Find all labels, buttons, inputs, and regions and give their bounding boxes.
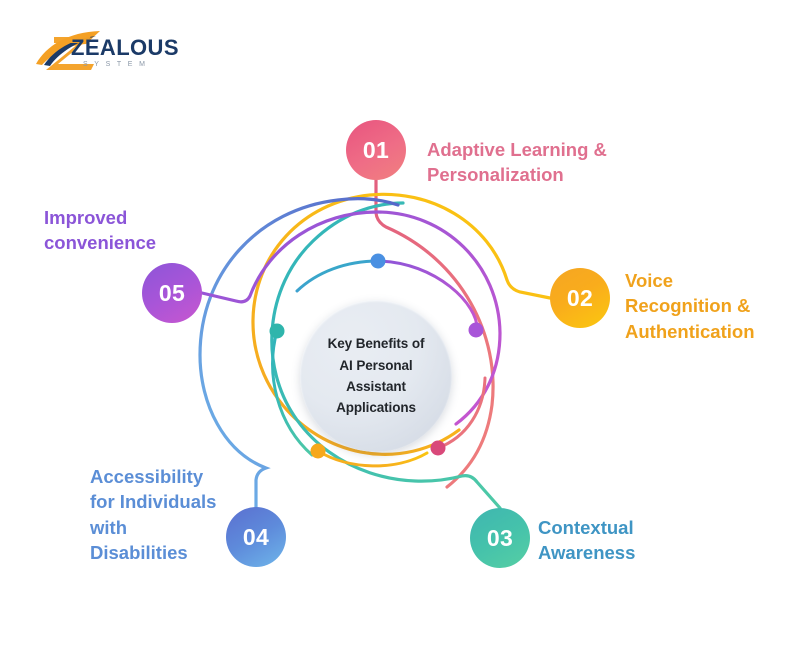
node-label-04: Accessibility for Individuals with Disab…: [90, 464, 236, 565]
inner-dot-amber: [311, 444, 326, 459]
benefits-wheel-diagram: Key Benefits of AI Personal Assistant Ap…: [0, 0, 812, 649]
inner-dot-rose: [431, 441, 446, 456]
node-label-01: Adaptive Learning & Personalization: [427, 137, 607, 188]
center-hub: Key Benefits of AI Personal Assistant Ap…: [300, 300, 452, 452]
node-label-05: Improved convenience: [44, 205, 156, 256]
inner-dot-purple: [469, 323, 484, 338]
node-bubble-03[interactable]: 03: [470, 508, 530, 568]
center-hub-title: Key Benefits of AI Personal Assistant Ap…: [328, 333, 425, 418]
node-bubble-02[interactable]: 02: [550, 268, 610, 328]
node-label-03: Contextual Awareness: [538, 515, 635, 566]
node-bubble-05[interactable]: 05: [142, 263, 202, 323]
inner-arc-blue: [297, 261, 378, 291]
inner-dot-teal: [270, 324, 285, 339]
node-label-02: Voice Recognition & Authentication: [625, 268, 755, 344]
inner-dot-blue: [371, 254, 386, 269]
node-bubble-01[interactable]: 01: [346, 120, 406, 180]
